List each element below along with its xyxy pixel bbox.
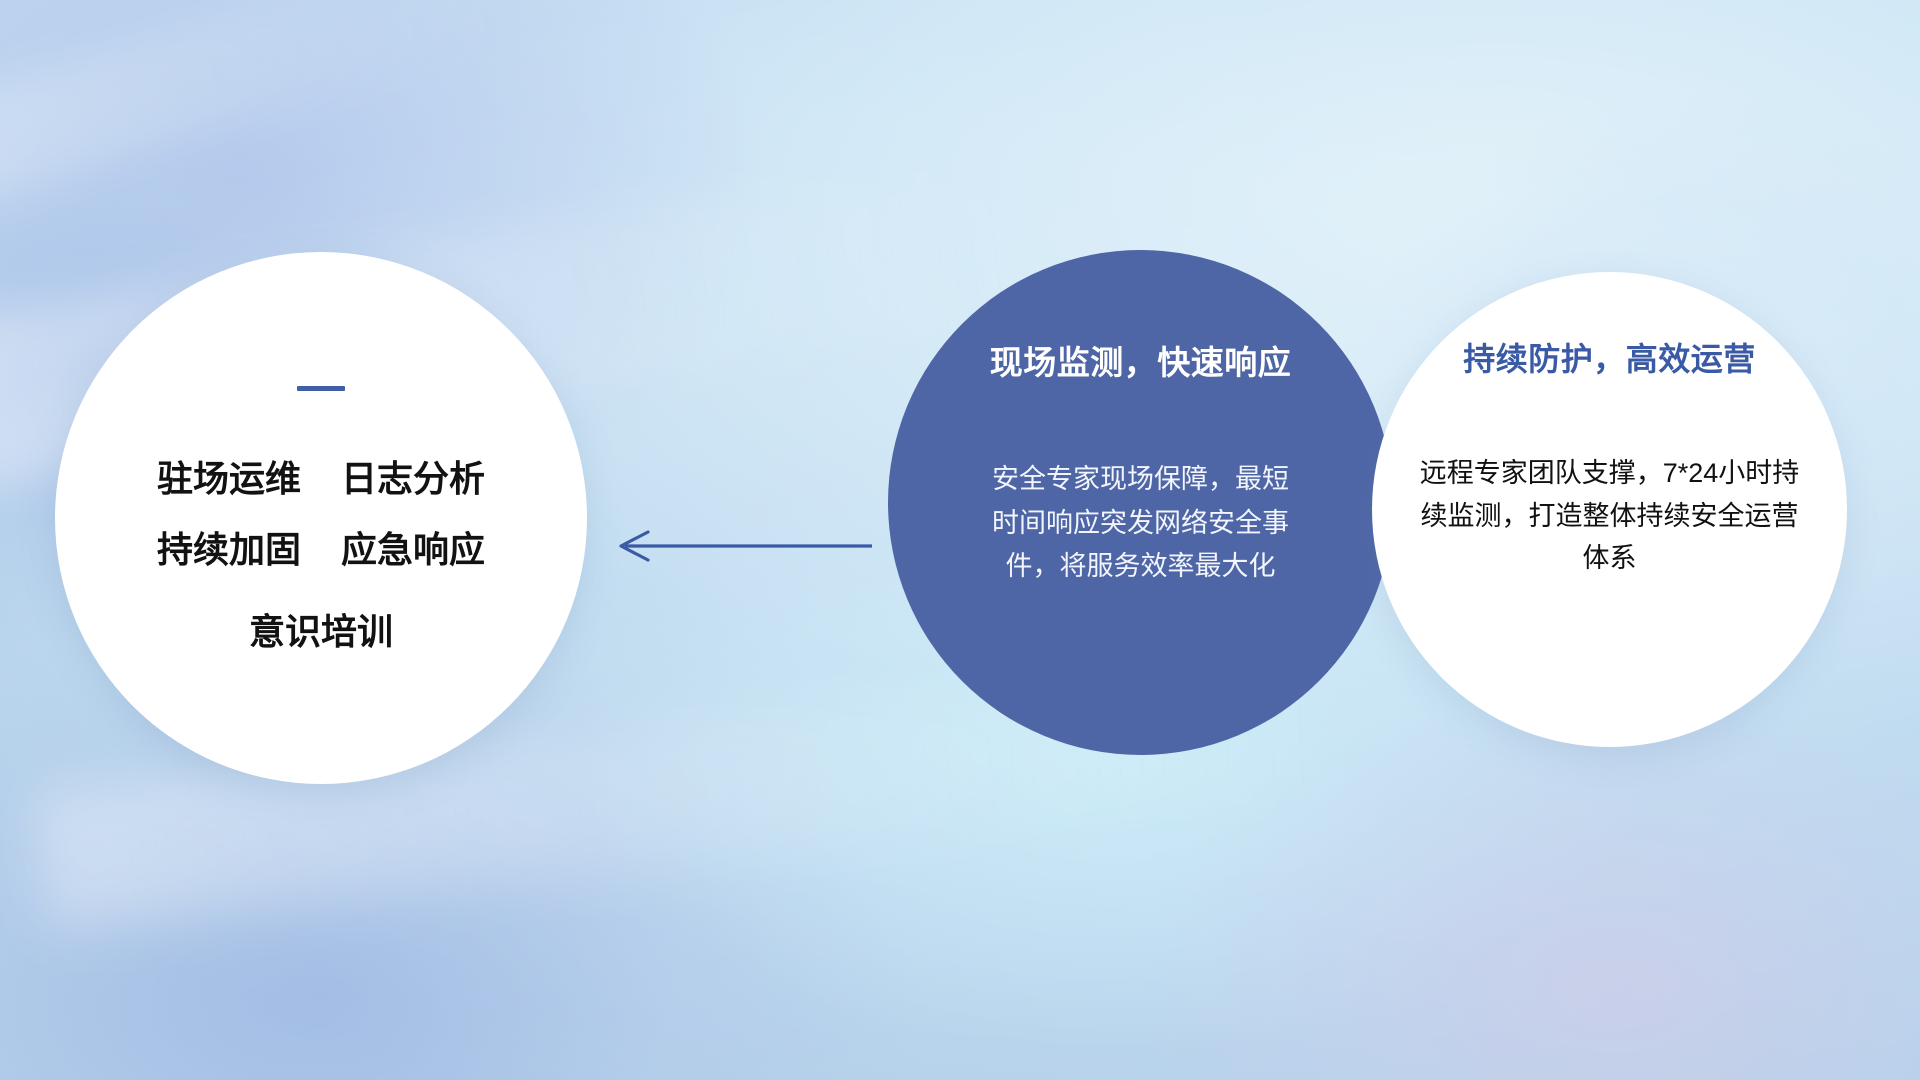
capability-line-1: 驻场运维 日志分析 [157, 461, 485, 497]
onsite-monitoring-circle[interactable]: 现场监测，快速响应 安全专家现场保障，最短时间响应突发网络安全事件，将服务效率最… [888, 250, 1393, 755]
continuous-protection-title: 持续防护，高效运营 [1463, 334, 1756, 380]
onsite-monitoring-body: 安全专家现场保障，最短时间响应突发网络安全事件，将服务效率最大化 [991, 458, 1291, 589]
onsite-monitoring-title: 现场监测，快速响应 [990, 336, 1292, 384]
continuous-protection-body: 远程专家团队支撑，7*24小时持续监测，打造整体持续安全运营体系 [1410, 452, 1810, 580]
capability-line-3: 意识培训 [249, 614, 393, 650]
slide-canvas: 驻场运维 日志分析 持续加固 应急响应 意识培训 现场监测，快速响应 安全专家现… [0, 0, 1920, 1080]
divider-dash [297, 386, 345, 391]
continuous-protection-circle[interactable]: 持续防护，高效运营 远程专家团队支撑，7*24小时持续监测，打造整体持续安全运营… [1372, 272, 1847, 747]
capabilities-circle[interactable]: 驻场运维 日志分析 持续加固 应急响应 意识培训 [55, 252, 587, 784]
capability-line-2: 持续加固 应急响应 [157, 532, 485, 568]
capabilities-list: 驻场运维 日志分析 持续加固 应急响应 意识培训 [157, 461, 485, 650]
